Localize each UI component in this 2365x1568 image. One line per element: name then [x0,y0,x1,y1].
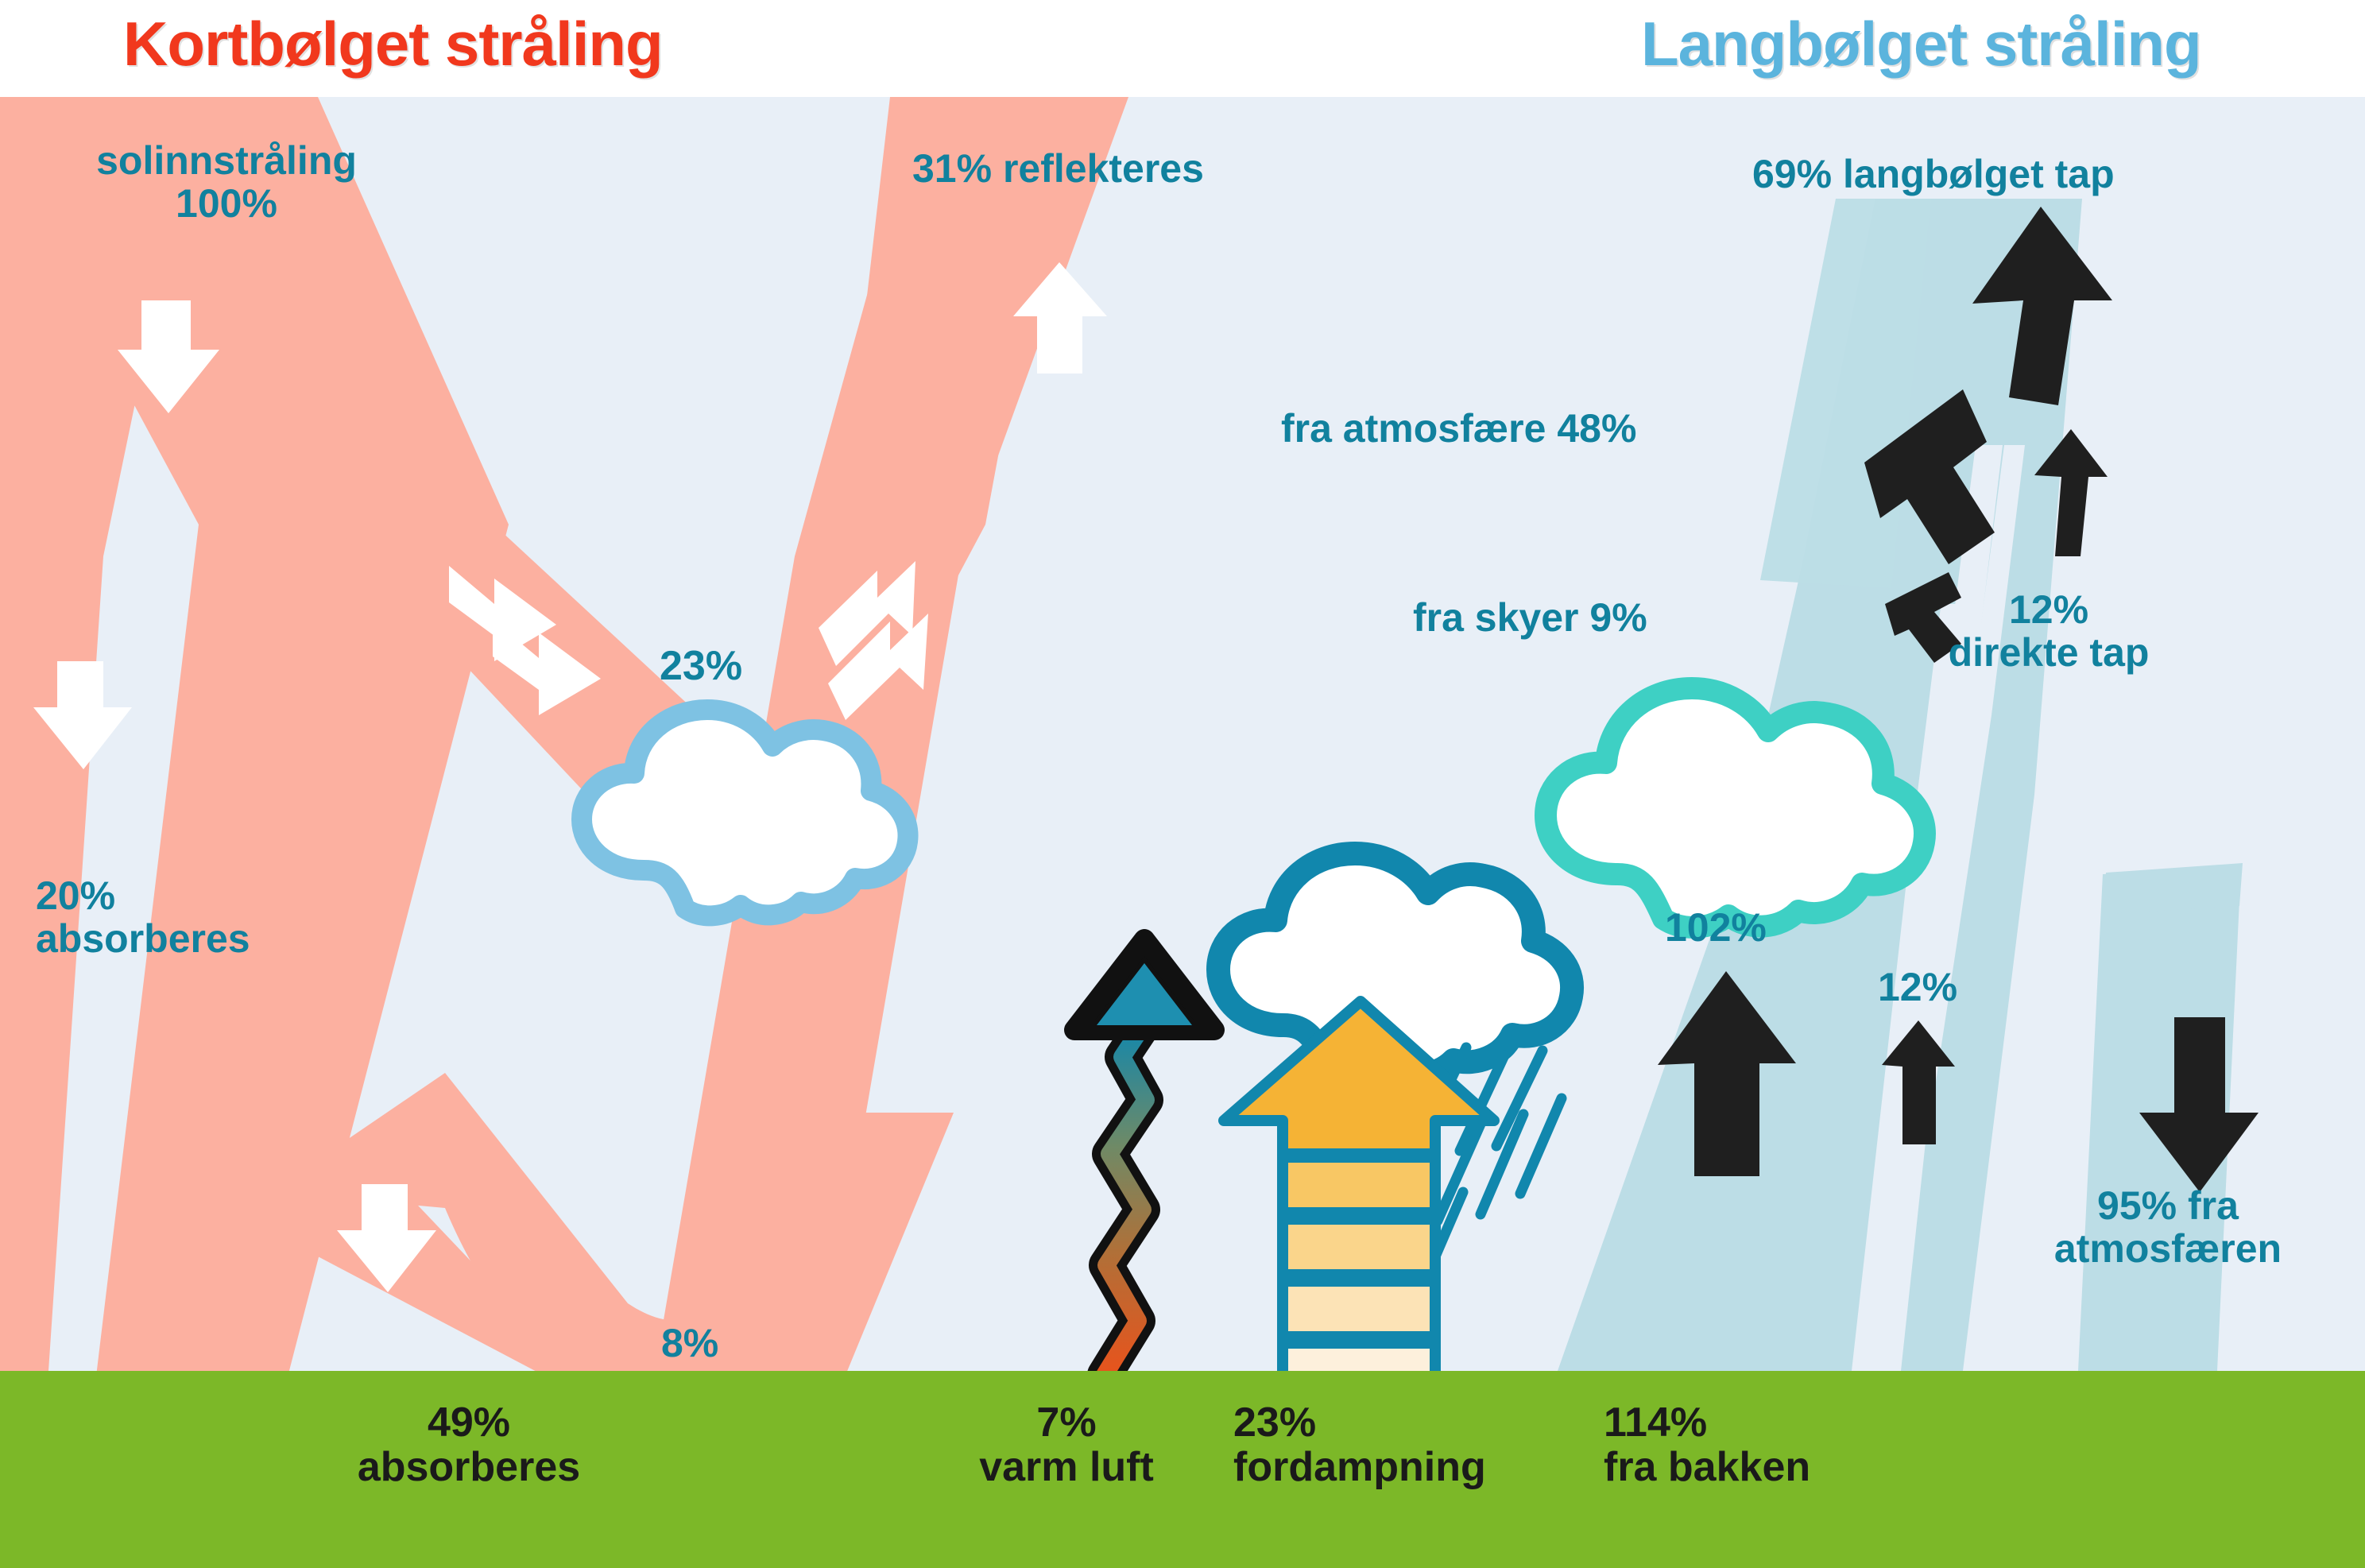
label-from-clouds: fra skyer 9% [1413,596,1647,639]
label-from-ground: 114% fra bakken [1604,1400,1810,1489]
cloud-longwave-shape [1546,688,1925,927]
warm-air-arrow [1074,939,1214,1375]
label-up-102: 102% [1665,906,1767,949]
label-down-atmosphere: 95% fra atmosfæren [2009,1184,2327,1270]
evap-seg [1283,1157,1435,1213]
label-from-atmosphere-48: fra atmosfære 48% [1281,407,1636,450]
page-title-shortwave: Kortbølget stråling [123,8,663,80]
page-title-longwave: Langbølget stråling [1641,8,2201,80]
label-absorbed-atmosphere: 20% absorberes [36,874,250,960]
label-evaporation: 23% fordampning [1233,1400,1486,1489]
label-absorbed-ground: 49% absorberes [294,1400,644,1489]
evap-seg [1283,1219,1435,1275]
label-ground-reflect: 8% [661,1322,718,1365]
label-solar-incoming: solinnstråling 100% [56,139,397,225]
cloud-shortwave [582,710,908,916]
energy-balance-diagram: Kortbølget stråling Langbølget stråling … [0,0,2365,1568]
label-direct-loss: 12% direkte tap [1906,588,2192,674]
label-reflected: 31% reflekteres [912,147,1204,190]
cloud-shortwave-shape [582,710,908,916]
evap-seg [1283,1281,1435,1337]
cloud-longwave [1546,688,1925,927]
cloud-layer [0,0,2365,1568]
label-warm-air: 7% varm luft [939,1400,1194,1489]
label-longwave-loss: 69% langbølget tap [1752,153,2115,196]
label-cloud-reflect: 23% [660,644,742,688]
label-up-12: 12% [1878,966,1957,1009]
